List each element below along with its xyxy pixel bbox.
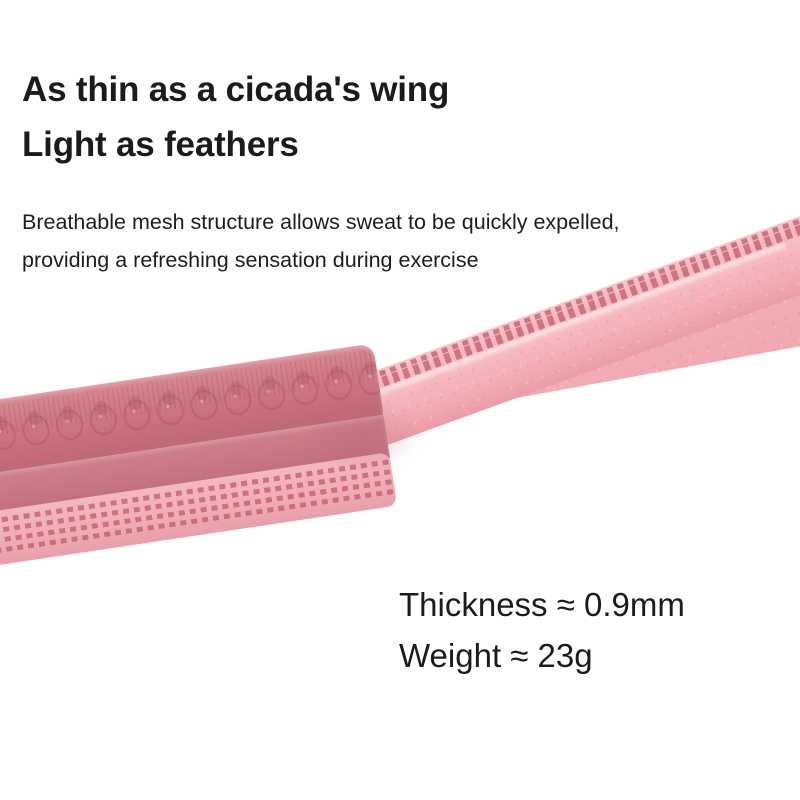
spec-thickness: Thickness ≈ 0.9mm — [399, 586, 685, 624]
body-line-1: Breathable mesh structure allows sweat t… — [22, 210, 620, 235]
headline-line-2: Light as feathers — [22, 125, 299, 165]
headline-line-1: As thin as a cicada's wing — [22, 70, 449, 110]
spec-weight: Weight ≈ 23g — [399, 637, 593, 675]
text-overlay: As thin as a cicada's wing Light as feat… — [0, 0, 800, 800]
body-line-2: providing a refreshing sensation during … — [22, 248, 479, 273]
product-marketing-image: As thin as a cicada's wing Light as feat… — [0, 0, 800, 800]
